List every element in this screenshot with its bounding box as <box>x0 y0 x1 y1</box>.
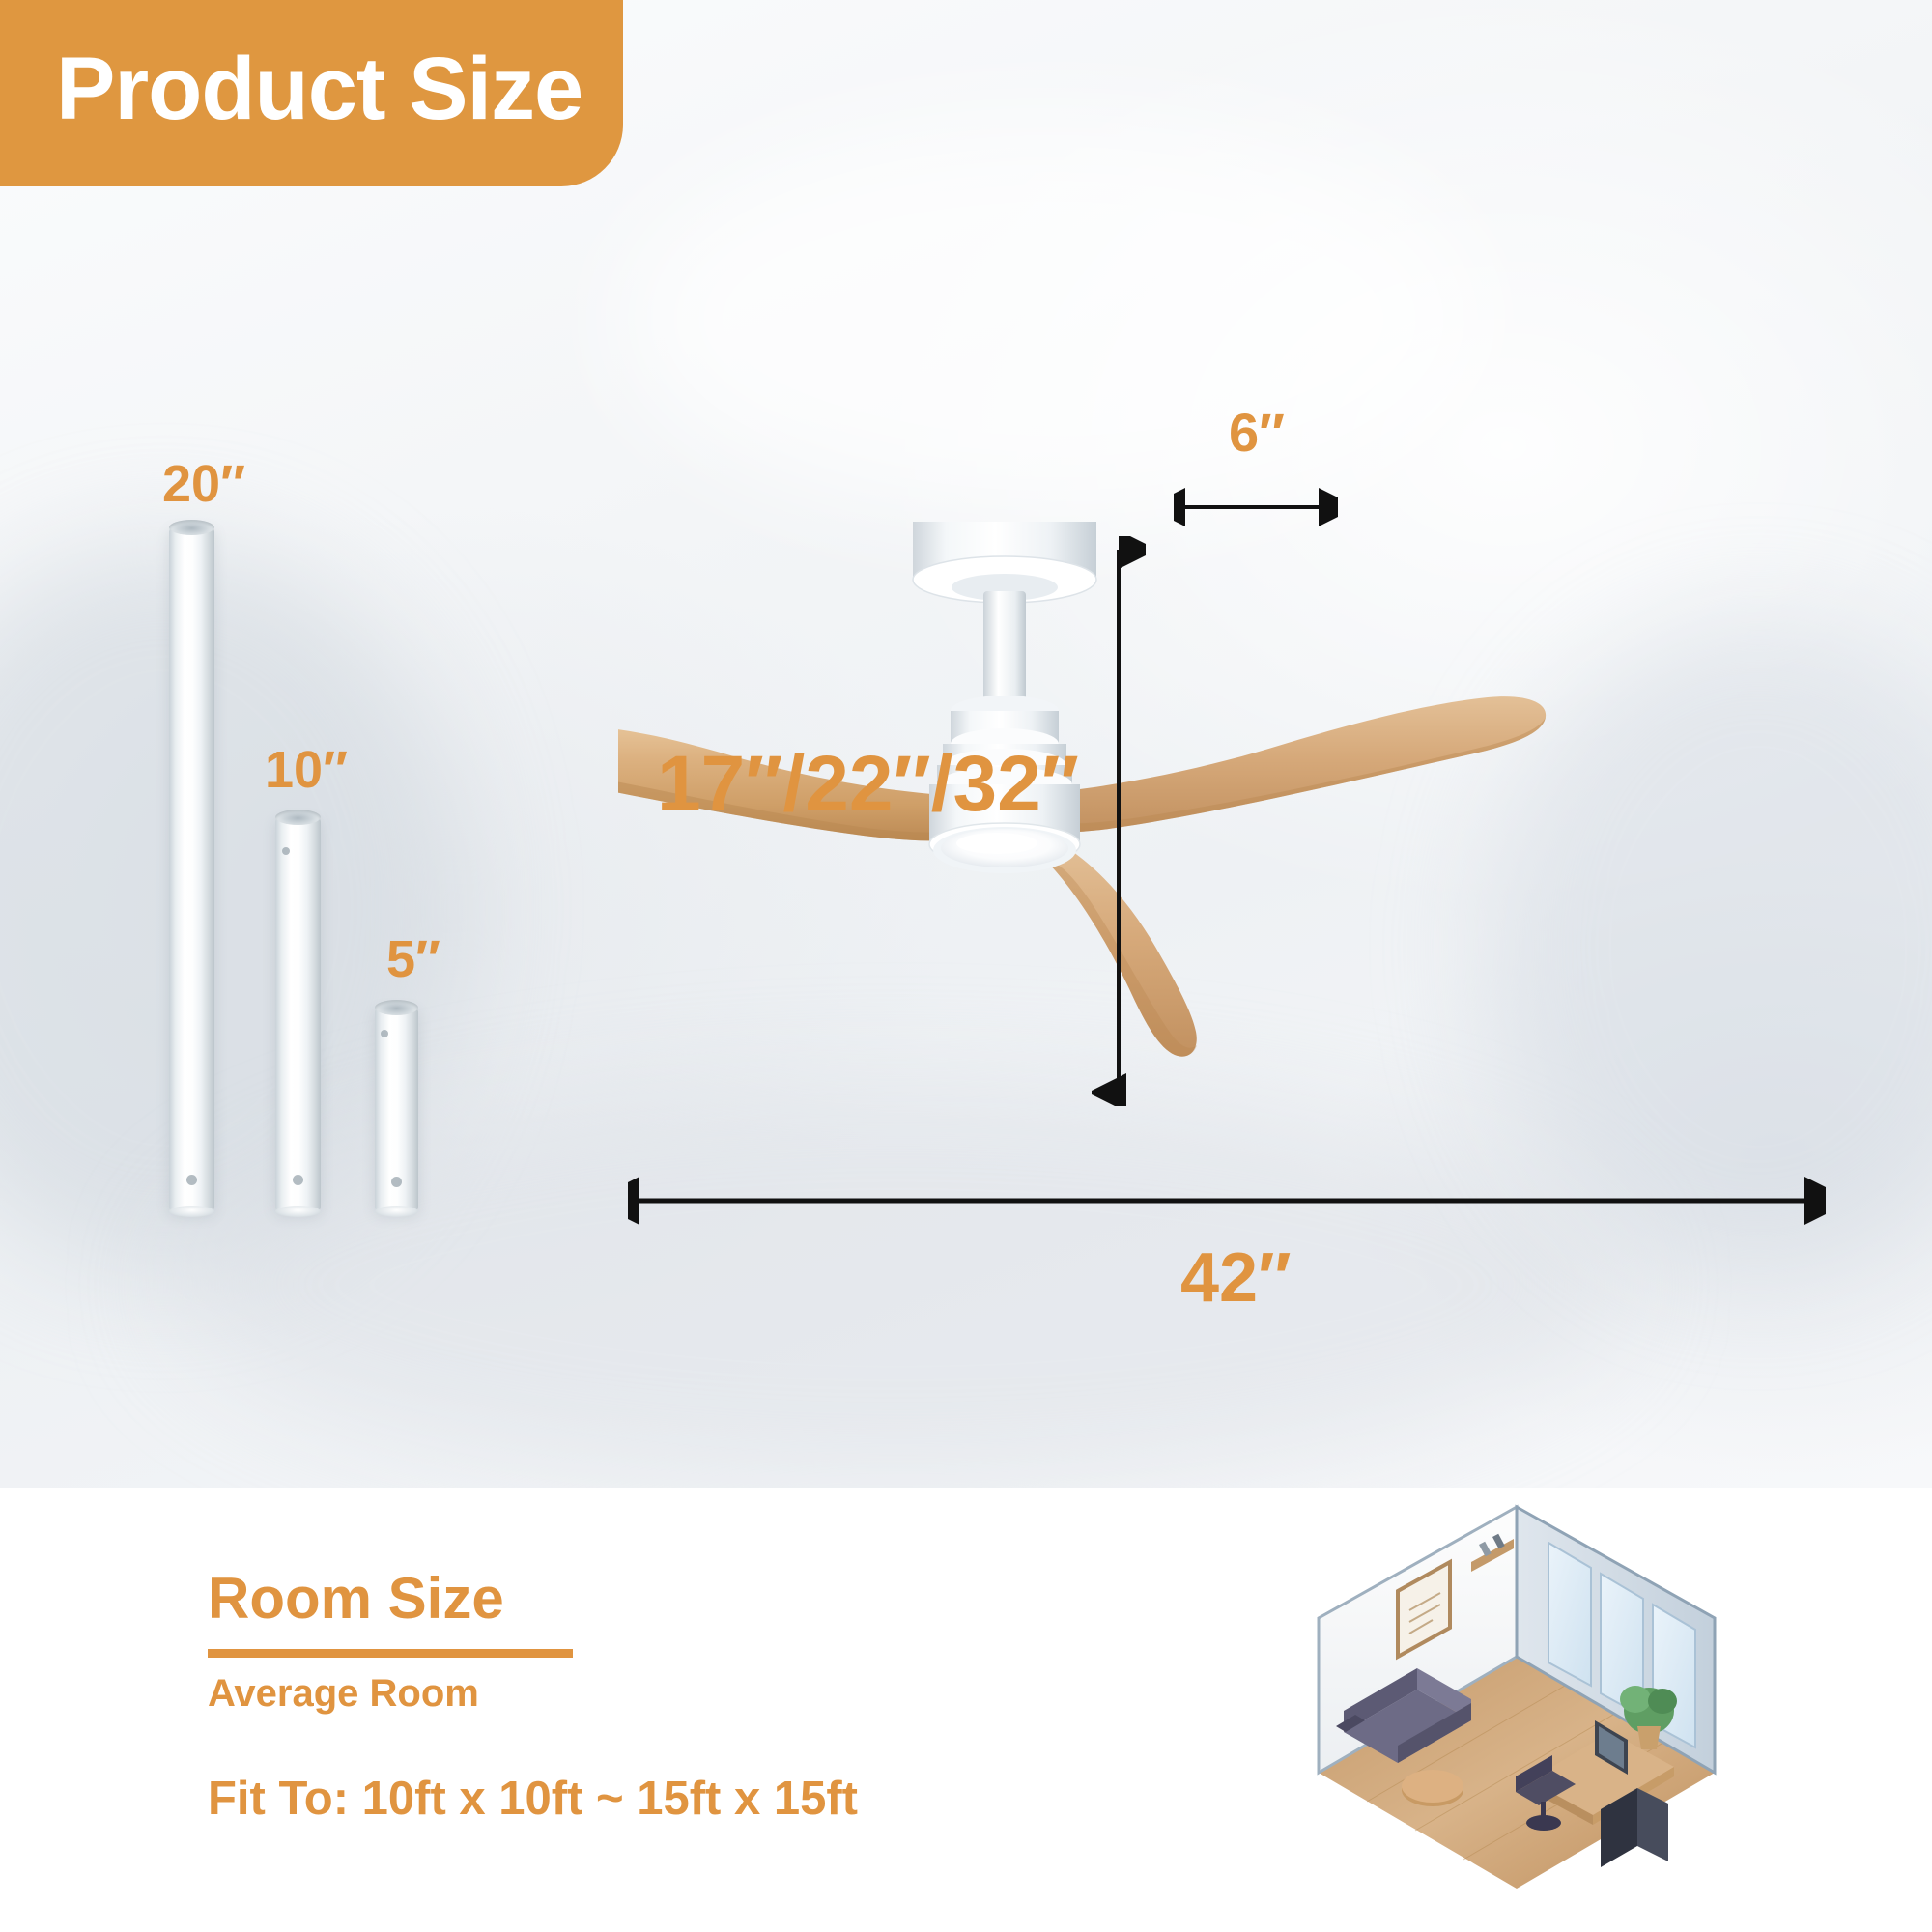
header-banner: Product Size <box>0 0 623 186</box>
ceiling-fan-illustration <box>618 522 1835 1179</box>
downrod-10 <box>275 816 321 1212</box>
room-fit-label: Fit To: 10ft x 10ft ~ 15ft x 15ft <box>208 1776 858 1823</box>
downrod-hole <box>391 1177 402 1187</box>
downrod-label-20: 20″ <box>162 454 245 514</box>
product-size-panel: Product Size 20″ 10″ 5″ 6″ 17″/22″/32″ <box>0 0 1932 1488</box>
downrod-label-5: 5″ <box>386 929 440 989</box>
blade-span-arrow <box>628 1177 1826 1225</box>
downrod-hole <box>186 1175 197 1185</box>
room-average-label: Average Room <box>208 1674 479 1713</box>
blade-span-label: 42″ <box>1180 1238 1292 1318</box>
background-blur-top <box>618 116 1488 522</box>
drop-height-label: 17″/22″/32″ <box>657 739 1079 830</box>
canopy-width-label: 6″ <box>1229 401 1285 464</box>
room-illustration <box>1309 1502 1724 1889</box>
page-title: Product Size <box>56 44 582 133</box>
downrod-20 <box>169 526 214 1212</box>
downrod-hole-top <box>282 847 290 855</box>
downrod-hole <box>293 1175 303 1185</box>
downrod-label-10: 10″ <box>265 740 348 800</box>
room-size-title: Room Size <box>208 1570 504 1628</box>
room-size-underline <box>208 1649 573 1658</box>
downrod-5 <box>375 1007 418 1212</box>
downrod-hole-top <box>381 1030 388 1037</box>
room-coffee-table <box>1402 1770 1463 1806</box>
drop-height-arrow <box>1092 536 1146 1106</box>
canopy-width-arrow <box>1174 483 1338 531</box>
